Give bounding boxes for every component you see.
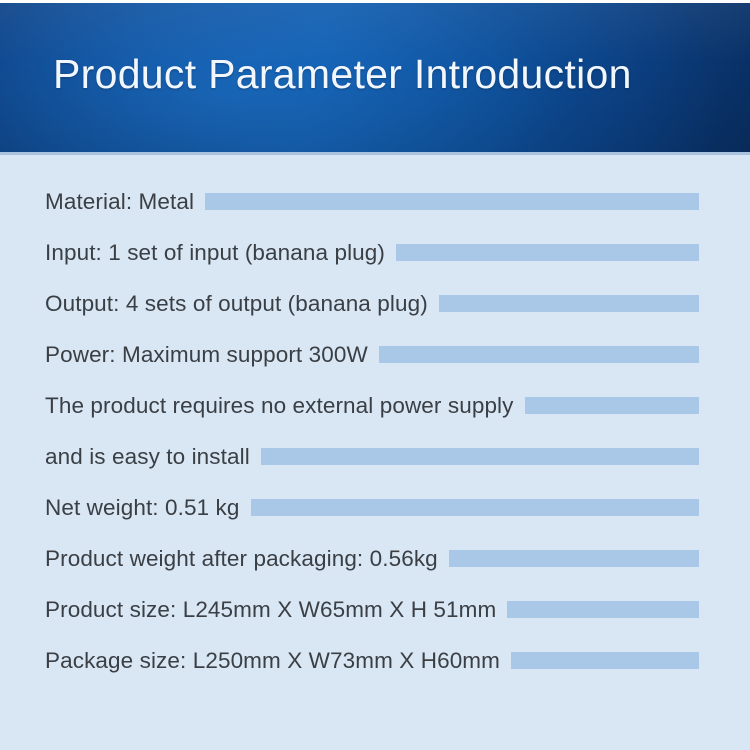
spec-label: Package size: L250mm X W73mm X H60mm xyxy=(45,648,500,674)
spec-filler-bar xyxy=(379,346,699,363)
spec-row: Input: 1 set of input (banana plug) xyxy=(0,227,750,278)
spec-row: Power: Maximum support 300W xyxy=(0,329,750,380)
header-banner: Product Parameter Introduction xyxy=(0,3,750,152)
product-parameter-card: Product Parameter Introduction Material:… xyxy=(0,0,750,750)
spec-filler-bar xyxy=(205,193,699,210)
spec-row: Output: 4 sets of output (banana plug) xyxy=(0,278,750,329)
spec-label: and is easy to install xyxy=(45,444,250,470)
spec-row: The product requires no external power s… xyxy=(0,380,750,431)
spec-label: Product weight after packaging: 0.56kg xyxy=(45,546,438,572)
spec-label: Product size: L245mm X W65mm X H 51mm xyxy=(45,597,496,623)
spec-list: Material: Metal Input: 1 set of input (b… xyxy=(0,176,750,686)
spec-row: Product size: L245mm X W65mm X H 51mm xyxy=(0,584,750,635)
header-divider xyxy=(0,152,750,155)
spec-label: Input: 1 set of input (banana plug) xyxy=(45,240,385,266)
spec-row: Package size: L250mm X W73mm X H60mm xyxy=(0,635,750,686)
spec-filler-bar xyxy=(396,244,699,261)
spec-row: and is easy to install xyxy=(0,431,750,482)
spec-label: Net weight: 0.51 kg xyxy=(45,495,240,521)
spec-filler-bar xyxy=(525,397,699,414)
spec-row: Product weight after packaging: 0.56kg xyxy=(0,533,750,584)
spec-row: Net weight: 0.51 kg xyxy=(0,482,750,533)
spec-label: Material: Metal xyxy=(45,189,194,215)
spec-label: Output: 4 sets of output (banana plug) xyxy=(45,291,428,317)
spec-filler-bar xyxy=(439,295,699,312)
spec-filler-bar xyxy=(511,652,699,669)
spec-filler-bar xyxy=(449,550,699,567)
spec-row: Material: Metal xyxy=(0,176,750,227)
spec-label: The product requires no external power s… xyxy=(45,393,514,419)
spec-label: Power: Maximum support 300W xyxy=(45,342,368,368)
spec-filler-bar xyxy=(251,499,699,516)
page-title: Product Parameter Introduction xyxy=(53,51,632,98)
spec-filler-bar xyxy=(507,601,699,618)
spec-filler-bar xyxy=(261,448,699,465)
